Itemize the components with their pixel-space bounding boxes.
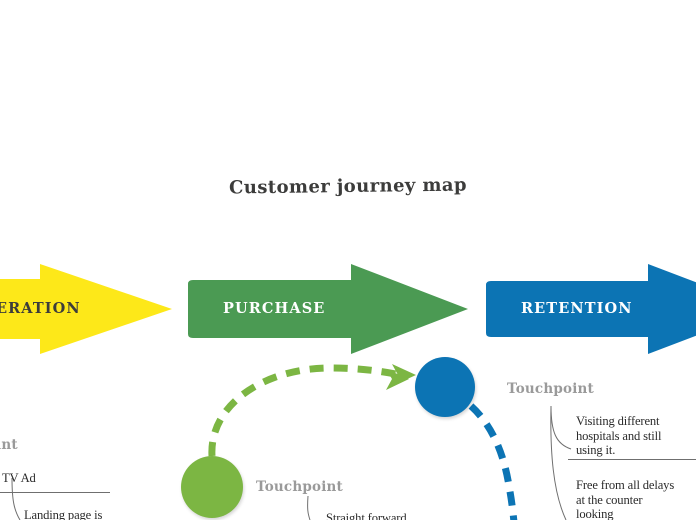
touchpoint-item-middle-0: Straight forward xyxy=(326,511,446,520)
touchpoint-heading-left: int xyxy=(0,437,18,453)
touchpoint-item-left-0: TV Ad xyxy=(2,471,112,486)
stage-label-purchase: PURCHASE xyxy=(223,300,325,317)
page-title: Customer journey map xyxy=(0,172,696,202)
touchpoint-brace-right xyxy=(551,406,571,520)
touchpoint-item-right-1: Free from all delays at the counter look… xyxy=(576,478,682,520)
touchpoint-heading-right: Touchpoint xyxy=(507,381,594,397)
connector-blue-dashed-arc xyxy=(471,406,514,520)
journey-map-canvas: Customer journey map xyxy=(0,0,696,520)
node-circle-blue[interactable] xyxy=(415,357,475,417)
touchpoint-divider-left xyxy=(0,492,110,493)
touchpoint-divider-right xyxy=(568,459,696,460)
touchpoint-item-left-1: Landing page is xyxy=(24,508,134,520)
node-circle-green[interactable] xyxy=(181,456,243,518)
touchpoint-brace-middle xyxy=(308,496,310,520)
touchpoint-item-right-0: Visiting different hospitals and still u… xyxy=(576,414,688,458)
connector-green-dashed-arc xyxy=(212,364,416,456)
touchpoint-heading-middle: Touchpoint xyxy=(256,479,343,495)
stage-label-lead-generation: ERATION xyxy=(0,300,81,317)
stage-label-retention: RETENTION xyxy=(521,300,633,317)
